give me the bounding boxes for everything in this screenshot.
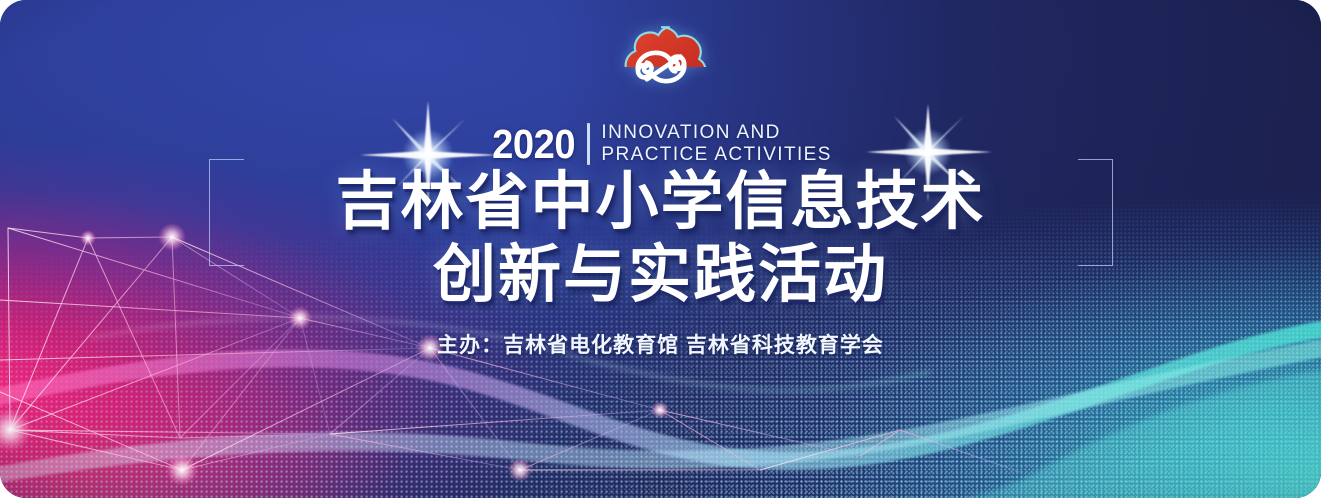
year-label: 2020 [492,124,575,165]
title-block: 吉林省中小学信息技术 创新与实践活动 [251,171,1071,307]
organizer-subtitle: 主办：吉林省电化教育馆 吉林省科技教育学会 [437,329,884,359]
headline-divider [587,123,590,165]
title-line-1: 吉林省中小学信息技术 [336,171,986,234]
english-line-1: INNOVATION AND [601,122,831,144]
headline-row: 2020 INNOVATION AND PRACTICE ACTIVITIES [489,119,832,169]
banner-content: 2020 INNOVATION AND PRACTICE ACTIVITIES … [0,0,1321,498]
event-banner: 2020 INNOVATION AND PRACTICE ACTIVITIES … [0,0,1321,498]
title-line-2: 创新与实践活动 [433,244,888,307]
cloud-swirl-emblem-icon [607,21,715,113]
english-line-2: PRACTICE ACTIVITIES [601,144,831,166]
corner-bracket-right-icon [1078,159,1113,266]
english-subtitle: INNOVATION AND PRACTICE ACTIVITIES [601,122,831,166]
corner-bracket-left-icon [209,159,244,266]
